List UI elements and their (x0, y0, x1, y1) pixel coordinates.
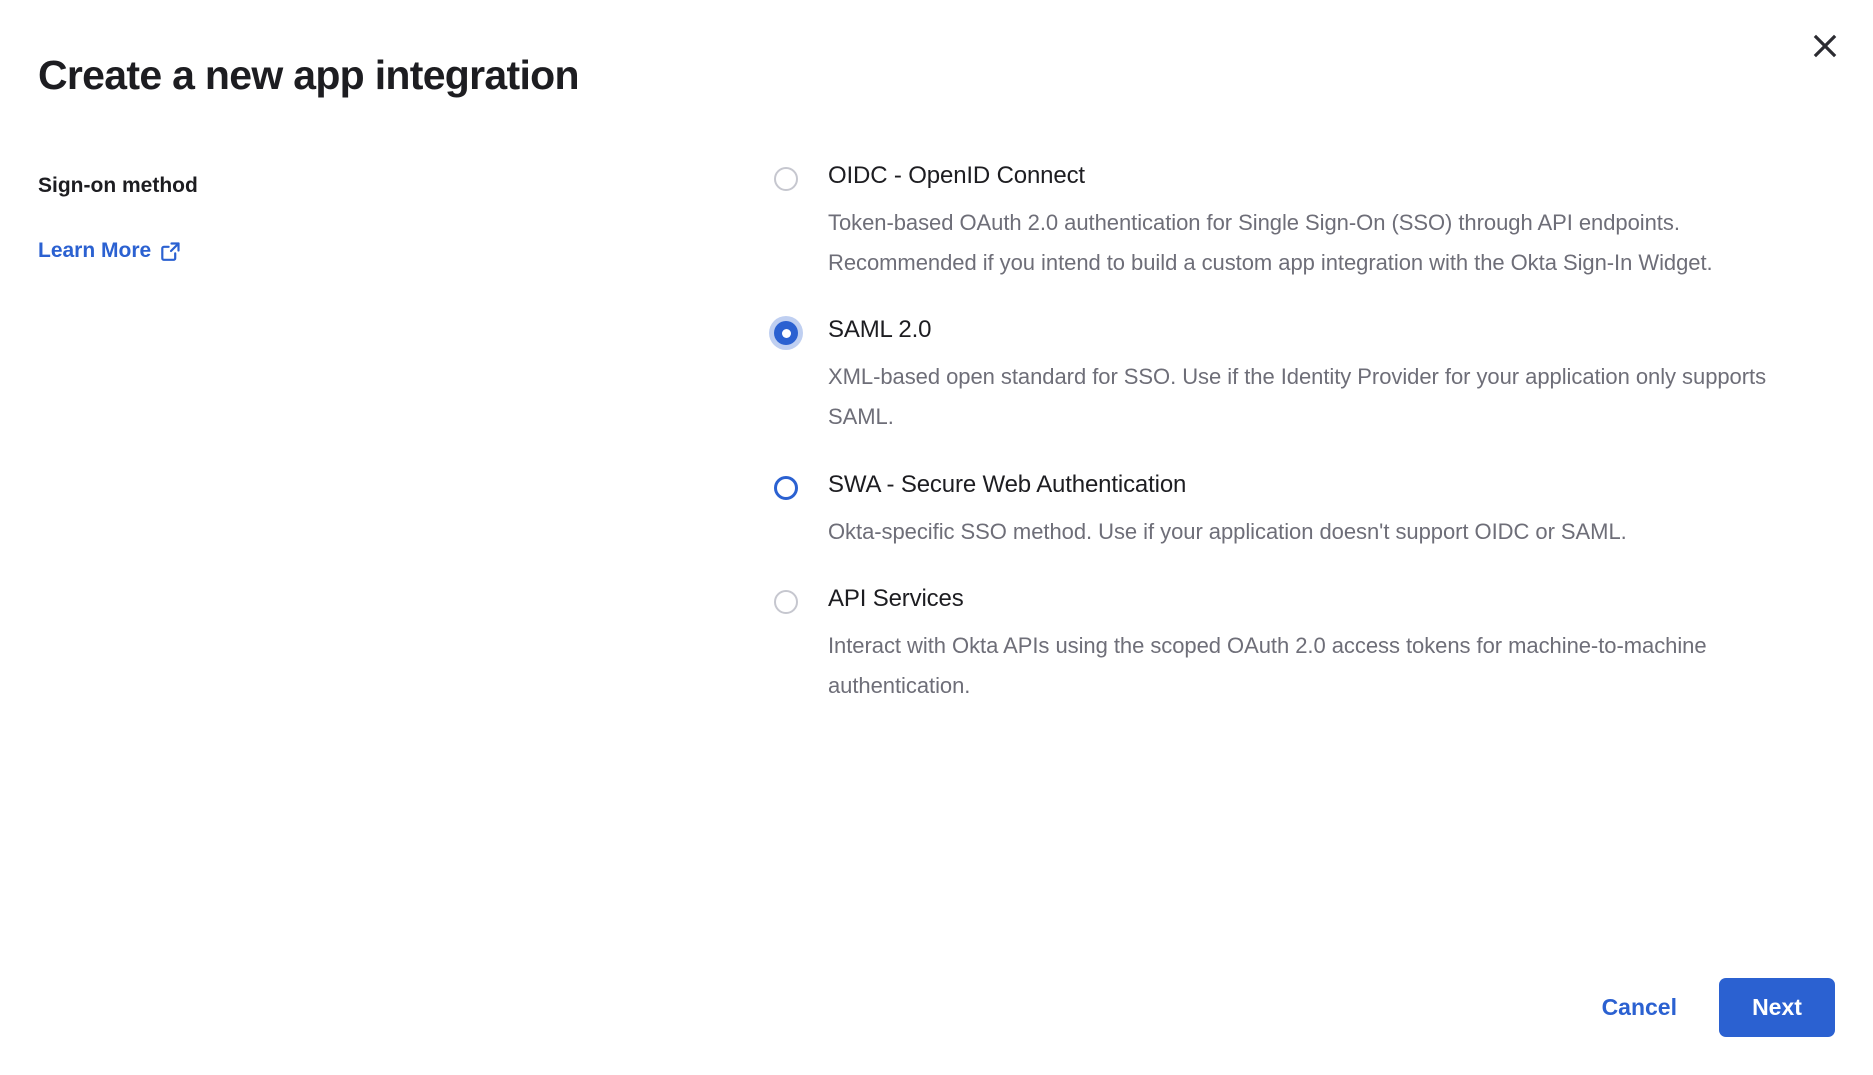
close-dialog-button[interactable] (1803, 24, 1847, 68)
option-label: SAML 2.0 (828, 314, 1825, 345)
radio-oidc-openid-connect[interactable] (774, 167, 798, 191)
option-saml-2-0[interactable]: SAML 2.0 XML-based open standard for SSO… (765, 314, 1825, 437)
option-description: XML-based open standard for SSO. Use if … (828, 357, 1825, 437)
option-label: SWA - Secure Web Authentication (828, 469, 1825, 500)
option-label: API Services (828, 583, 1825, 614)
option-label: OIDC - OpenID Connect (828, 160, 1825, 191)
option-description: Token-based OAuth 2.0 authentication for… (828, 203, 1825, 283)
page-title: Create a new app integration (38, 50, 579, 101)
next-button[interactable]: Next (1719, 978, 1835, 1037)
option-api-services[interactable]: API Services Interact with Okta APIs usi… (765, 583, 1825, 706)
learn-more-link[interactable]: Learn More (38, 239, 181, 263)
sign-on-method-options: OIDC - OpenID Connect Token-based OAuth … (765, 160, 1825, 706)
option-description: Interact with Okta APIs using the scoped… (828, 626, 1825, 706)
close-icon (1812, 33, 1838, 59)
radio-swa-secure-web-authentication[interactable] (774, 476, 798, 500)
learn-more-label: Learn More (38, 239, 151, 263)
radio-api-services[interactable] (774, 590, 798, 614)
option-oidc-openid-connect[interactable]: OIDC - OpenID Connect Token-based OAuth … (765, 160, 1825, 283)
option-description: Okta-specific SSO method. Use if your ap… (828, 512, 1825, 552)
cancel-button[interactable]: Cancel (1588, 982, 1691, 1033)
dialog-footer: Cancel Next (1588, 978, 1835, 1037)
option-swa-secure-web-authentication[interactable]: SWA - Secure Web Authentication Okta-spe… (765, 469, 1825, 552)
left-panel: Sign-on method Learn More (38, 172, 658, 263)
external-link-icon (160, 241, 181, 262)
radio-saml-2-0[interactable] (774, 321, 798, 345)
sign-on-method-label: Sign-on method (38, 172, 658, 199)
